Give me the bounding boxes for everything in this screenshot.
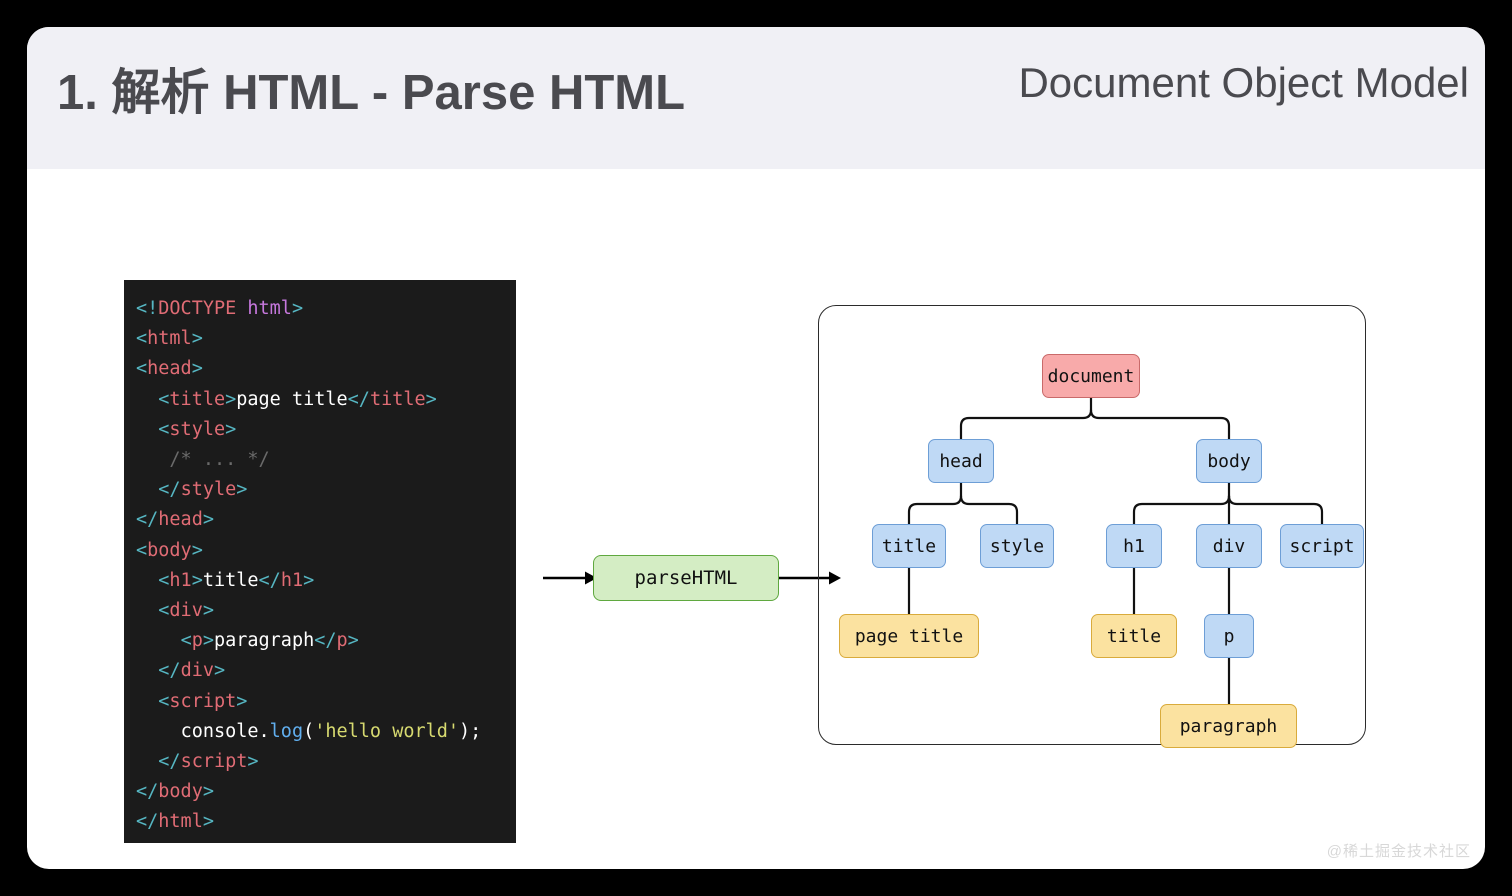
parse-html-node: parseHTML (593, 555, 779, 601)
tree-node-head: head (928, 439, 994, 483)
parse-html-label: parseHTML (635, 567, 738, 589)
code-line: </script> (124, 747, 516, 777)
code-line: <p>paragraph</p> (124, 626, 516, 656)
code-line: /* ... */ (124, 445, 516, 475)
tree-node-label: page title (855, 626, 963, 647)
tree-node-div: div (1196, 524, 1262, 568)
tree-node-label: script (1289, 536, 1354, 557)
tree-node-style: style (980, 524, 1054, 568)
code-line: console.log('hello world'); (124, 717, 516, 747)
tree-node-label: body (1207, 451, 1250, 472)
watermark: @稀土掘金技术社区 (1327, 840, 1471, 861)
tree-node-label: document (1048, 366, 1135, 387)
tree-node-title: title (872, 524, 946, 568)
tree-node-p: p (1204, 614, 1254, 658)
tree-node-paragraph-text: paragraph (1160, 704, 1297, 748)
section-label: Document Object Model (1018, 59, 1469, 107)
tree-node-label: title (1107, 626, 1161, 647)
code-line: </style> (124, 475, 516, 505)
tree-node-label: style (990, 536, 1044, 557)
tree-node-label: div (1213, 536, 1246, 557)
tree-node-label: head (939, 451, 982, 472)
code-line: <title>page title</title> (124, 385, 516, 415)
tree-node-title-text: title (1091, 614, 1177, 658)
slide-header: 1. 解析 HTML - Parse HTML Document Object … (27, 27, 1485, 169)
code-line: </body> (124, 777, 516, 807)
code-line: </html> (124, 807, 516, 837)
tree-node-document: document (1042, 354, 1140, 398)
code-line: <html> (124, 324, 516, 354)
page-title: 1. 解析 HTML - Parse HTML (57, 53, 685, 124)
tree-node-script: script (1280, 524, 1364, 568)
arrow-code-to-parse-icon (543, 571, 597, 585)
tree-node-label: title (882, 536, 936, 557)
code-line: </head> (124, 505, 516, 535)
code-line: <body> (124, 536, 516, 566)
slide-card: 1. 解析 HTML - Parse HTML Document Object … (27, 27, 1485, 869)
tree-node-h1: h1 (1106, 524, 1162, 568)
code-line: <script> (124, 687, 516, 717)
code-line: <!DOCTYPE html> (124, 294, 516, 324)
dom-tree-container: document head body title style h1 div sc… (818, 305, 1366, 745)
code-line: <h1>title</h1> (124, 566, 516, 596)
html-code-block: <!DOCTYPE html><html><head> <title>page … (124, 280, 516, 843)
code-line: <style> (124, 415, 516, 445)
code-line: </div> (124, 656, 516, 686)
tree-node-body: body (1196, 439, 1262, 483)
tree-node-label: paragraph (1180, 716, 1278, 737)
tree-node-label: h1 (1123, 536, 1145, 557)
code-line: <head> (124, 354, 516, 384)
tree-node-label: p (1224, 626, 1235, 647)
code-line: <div> (124, 596, 516, 626)
tree-node-page-title-text: page title (839, 614, 979, 658)
